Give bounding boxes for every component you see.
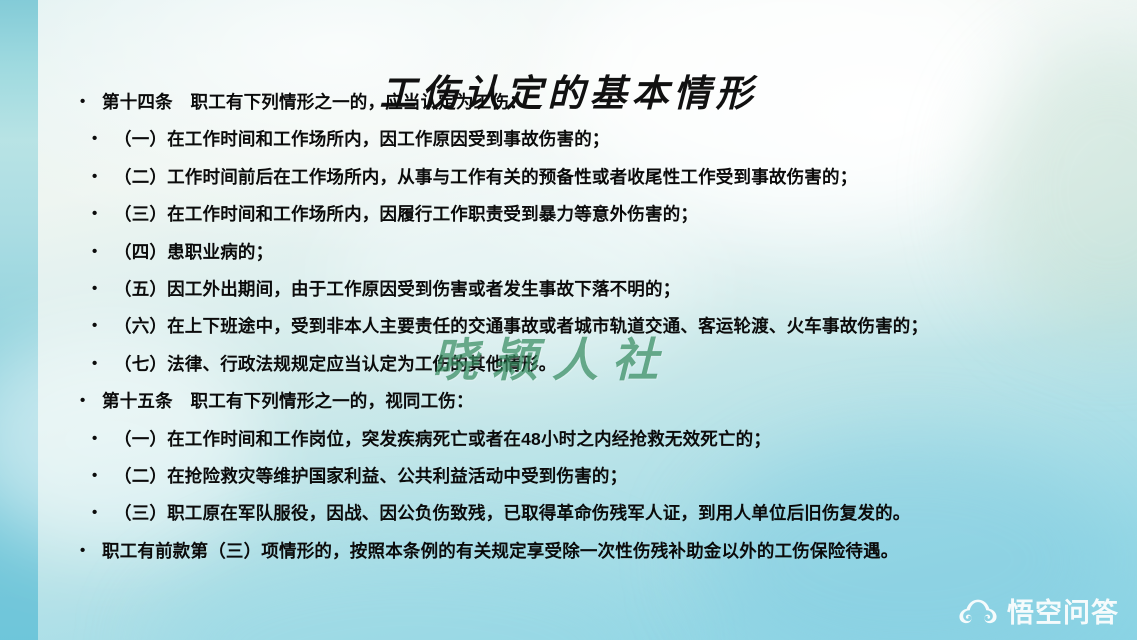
wukong-wenda-logo: 悟空问答: [958, 591, 1119, 630]
bullet-line: 第十五条 职工有下列情形之一的，视同工伤：: [76, 391, 1086, 412]
bullet-line: （五）因工外出期间，由于工作原因受到伤害或者发生事故下落不明的；: [76, 279, 1086, 300]
bullet-line: （三）在工作时间和工作场所内，因履行工作职责受到暴力等意外伤害的；: [76, 204, 1086, 225]
bullet-line: 第十四条 职工有下列情形之一的，应当认定为工伤：: [76, 92, 1086, 113]
presentation-slide: 工伤认定的基本情形 第十四条 职工有下列情形之一的，应当认定为工伤：（一）在工作…: [0, 0, 1137, 640]
bullet-line: （七）法律、行政法规规定应当认定为工伤的其他情形。: [76, 354, 1086, 375]
bullet-line: （一）在工作时间和工作岗位，突发疾病死亡或者在48小时之内经抢救无效死亡的；: [76, 429, 1086, 450]
logo-text: 悟空问答: [1007, 591, 1119, 630]
bullet-line: （六）在上下班途中，受到非本人主要责任的交通事故或者城市轨道交通、客运轮渡、火车…: [76, 316, 1086, 337]
bullet-line: 职工有前款第（三）项情形的，按照本条例的有关规定享受除一次性伤残补助金以外的工伤…: [76, 541, 1086, 562]
bullet-line: （一）在工作时间和工作场所内，因工作原因受到事故伤害的；: [76, 129, 1086, 150]
bullet-line: （二）工作时间前后在工作场所内，从事与工作有关的预备性或者收尾性工作受到事故伤害…: [76, 167, 1086, 188]
bullet-line: （二）在抢险救灾等维护国家利益、公共利益活动中受到伤害的；: [76, 466, 1086, 487]
bullet-line: （四）患职业病的；: [76, 242, 1086, 263]
bullet-line: （三）职工原在军队服役，因战、因公负伤致残，已取得革命伤残军人证，到用人单位后旧…: [76, 503, 1086, 524]
slide-body-bullet-list: 第十四条 职工有下列情形之一的，应当认定为工伤：（一）在工作时间和工作场所内，因…: [76, 92, 1086, 578]
cloud-icon: [958, 597, 998, 625]
